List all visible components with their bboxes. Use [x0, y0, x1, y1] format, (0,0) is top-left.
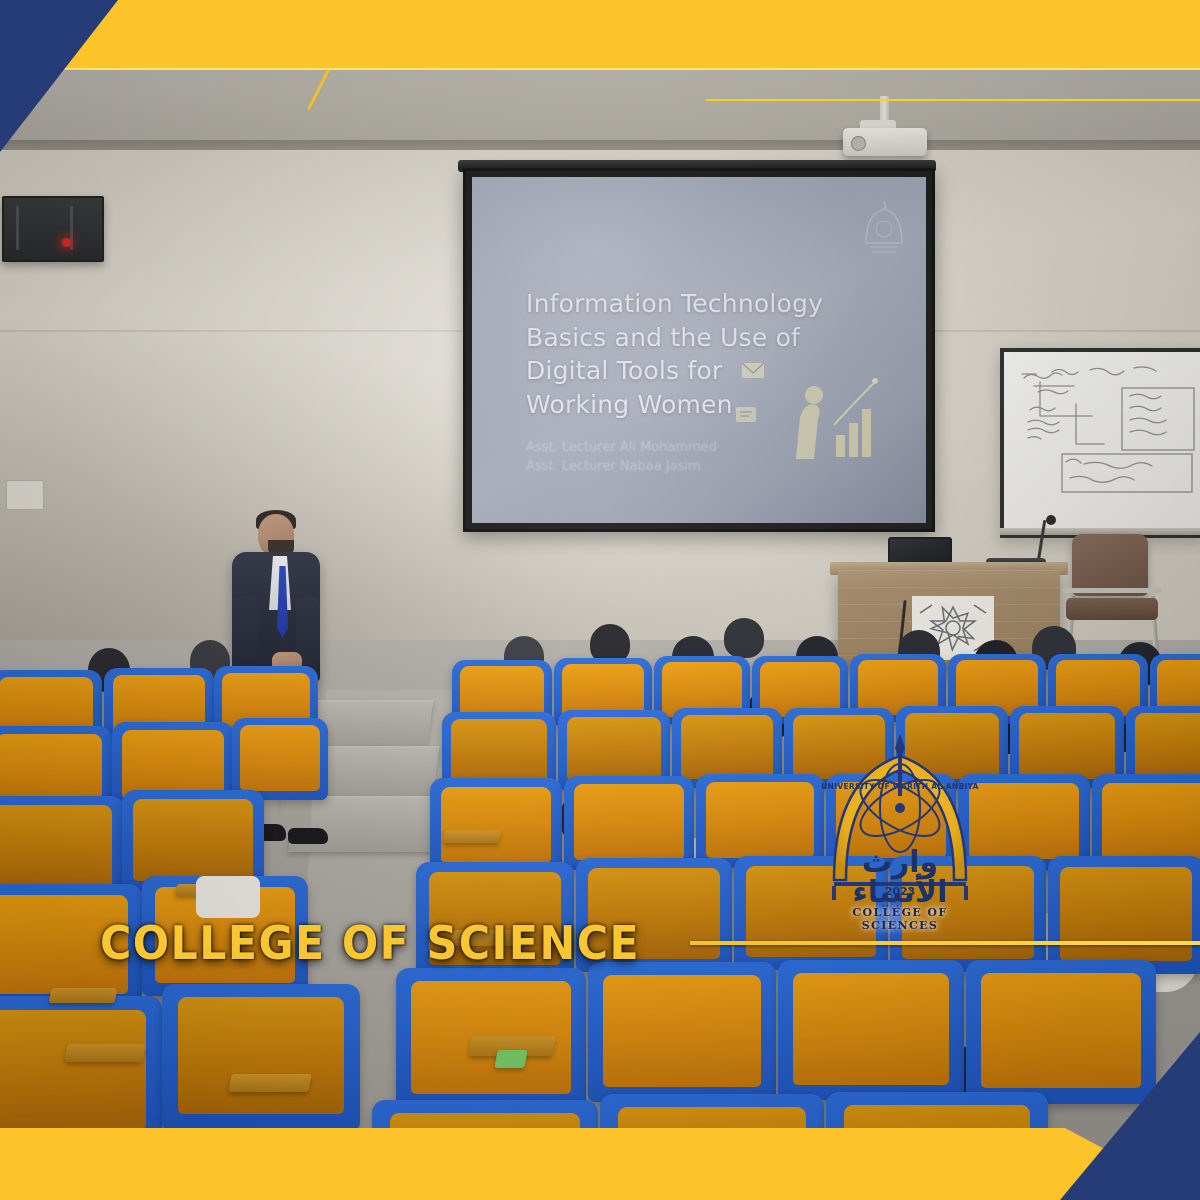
seal-english-bottom: COLLEGE OF SCIENCES	[812, 906, 988, 932]
handbag	[196, 876, 260, 918]
wall-socket-plate	[6, 480, 44, 510]
page-title: COLLEGE OF SCIENCE	[100, 916, 640, 970]
presenter-shoe	[288, 828, 328, 844]
top-right-hairline	[706, 99, 1200, 101]
projector-lens	[851, 136, 866, 151]
ceiling-projector	[843, 128, 927, 156]
top-gold-band	[0, 0, 1200, 70]
whiteboard-notes	[1004, 352, 1200, 534]
chair-backrest	[1072, 534, 1148, 596]
seal-english-top: UNIVERSITY OF WARITH AL-ANBIYA	[812, 782, 988, 791]
title-divider-rule	[690, 941, 1200, 945]
university-seal: UNIVERSITY OF WARITH AL-ANBIYA وارث الأن…	[812, 730, 988, 938]
bottom-right-navy-triangle	[1060, 1032, 1200, 1200]
wall-speaker-unit	[2, 196, 104, 262]
slide-illustration-icon	[736, 355, 886, 465]
projection-screen: Information Technology Basics and the Us…	[463, 168, 935, 532]
seal-year: 2023	[812, 885, 988, 898]
presenter-arm	[232, 596, 258, 670]
whiteboard	[1000, 348, 1200, 538]
bottom-gold-band	[0, 1128, 1200, 1200]
top-band-edge	[0, 68, 1200, 70]
power-led	[62, 238, 71, 247]
chair-armrest	[1062, 588, 1162, 593]
lecture-hall-photo: Information Technology Basics and the Us…	[0, 0, 1200, 1200]
top-left-navy-triangle	[0, 0, 118, 152]
attendee-head	[724, 618, 764, 658]
microphone-head	[1046, 515, 1056, 525]
seal-arabic-name: وارث الأنبياء	[812, 848, 988, 908]
chair-seat	[1066, 598, 1158, 620]
slide-watermark-icon	[860, 199, 908, 265]
event-poster: Information Technology Basics and the Us…	[0, 0, 1200, 1200]
